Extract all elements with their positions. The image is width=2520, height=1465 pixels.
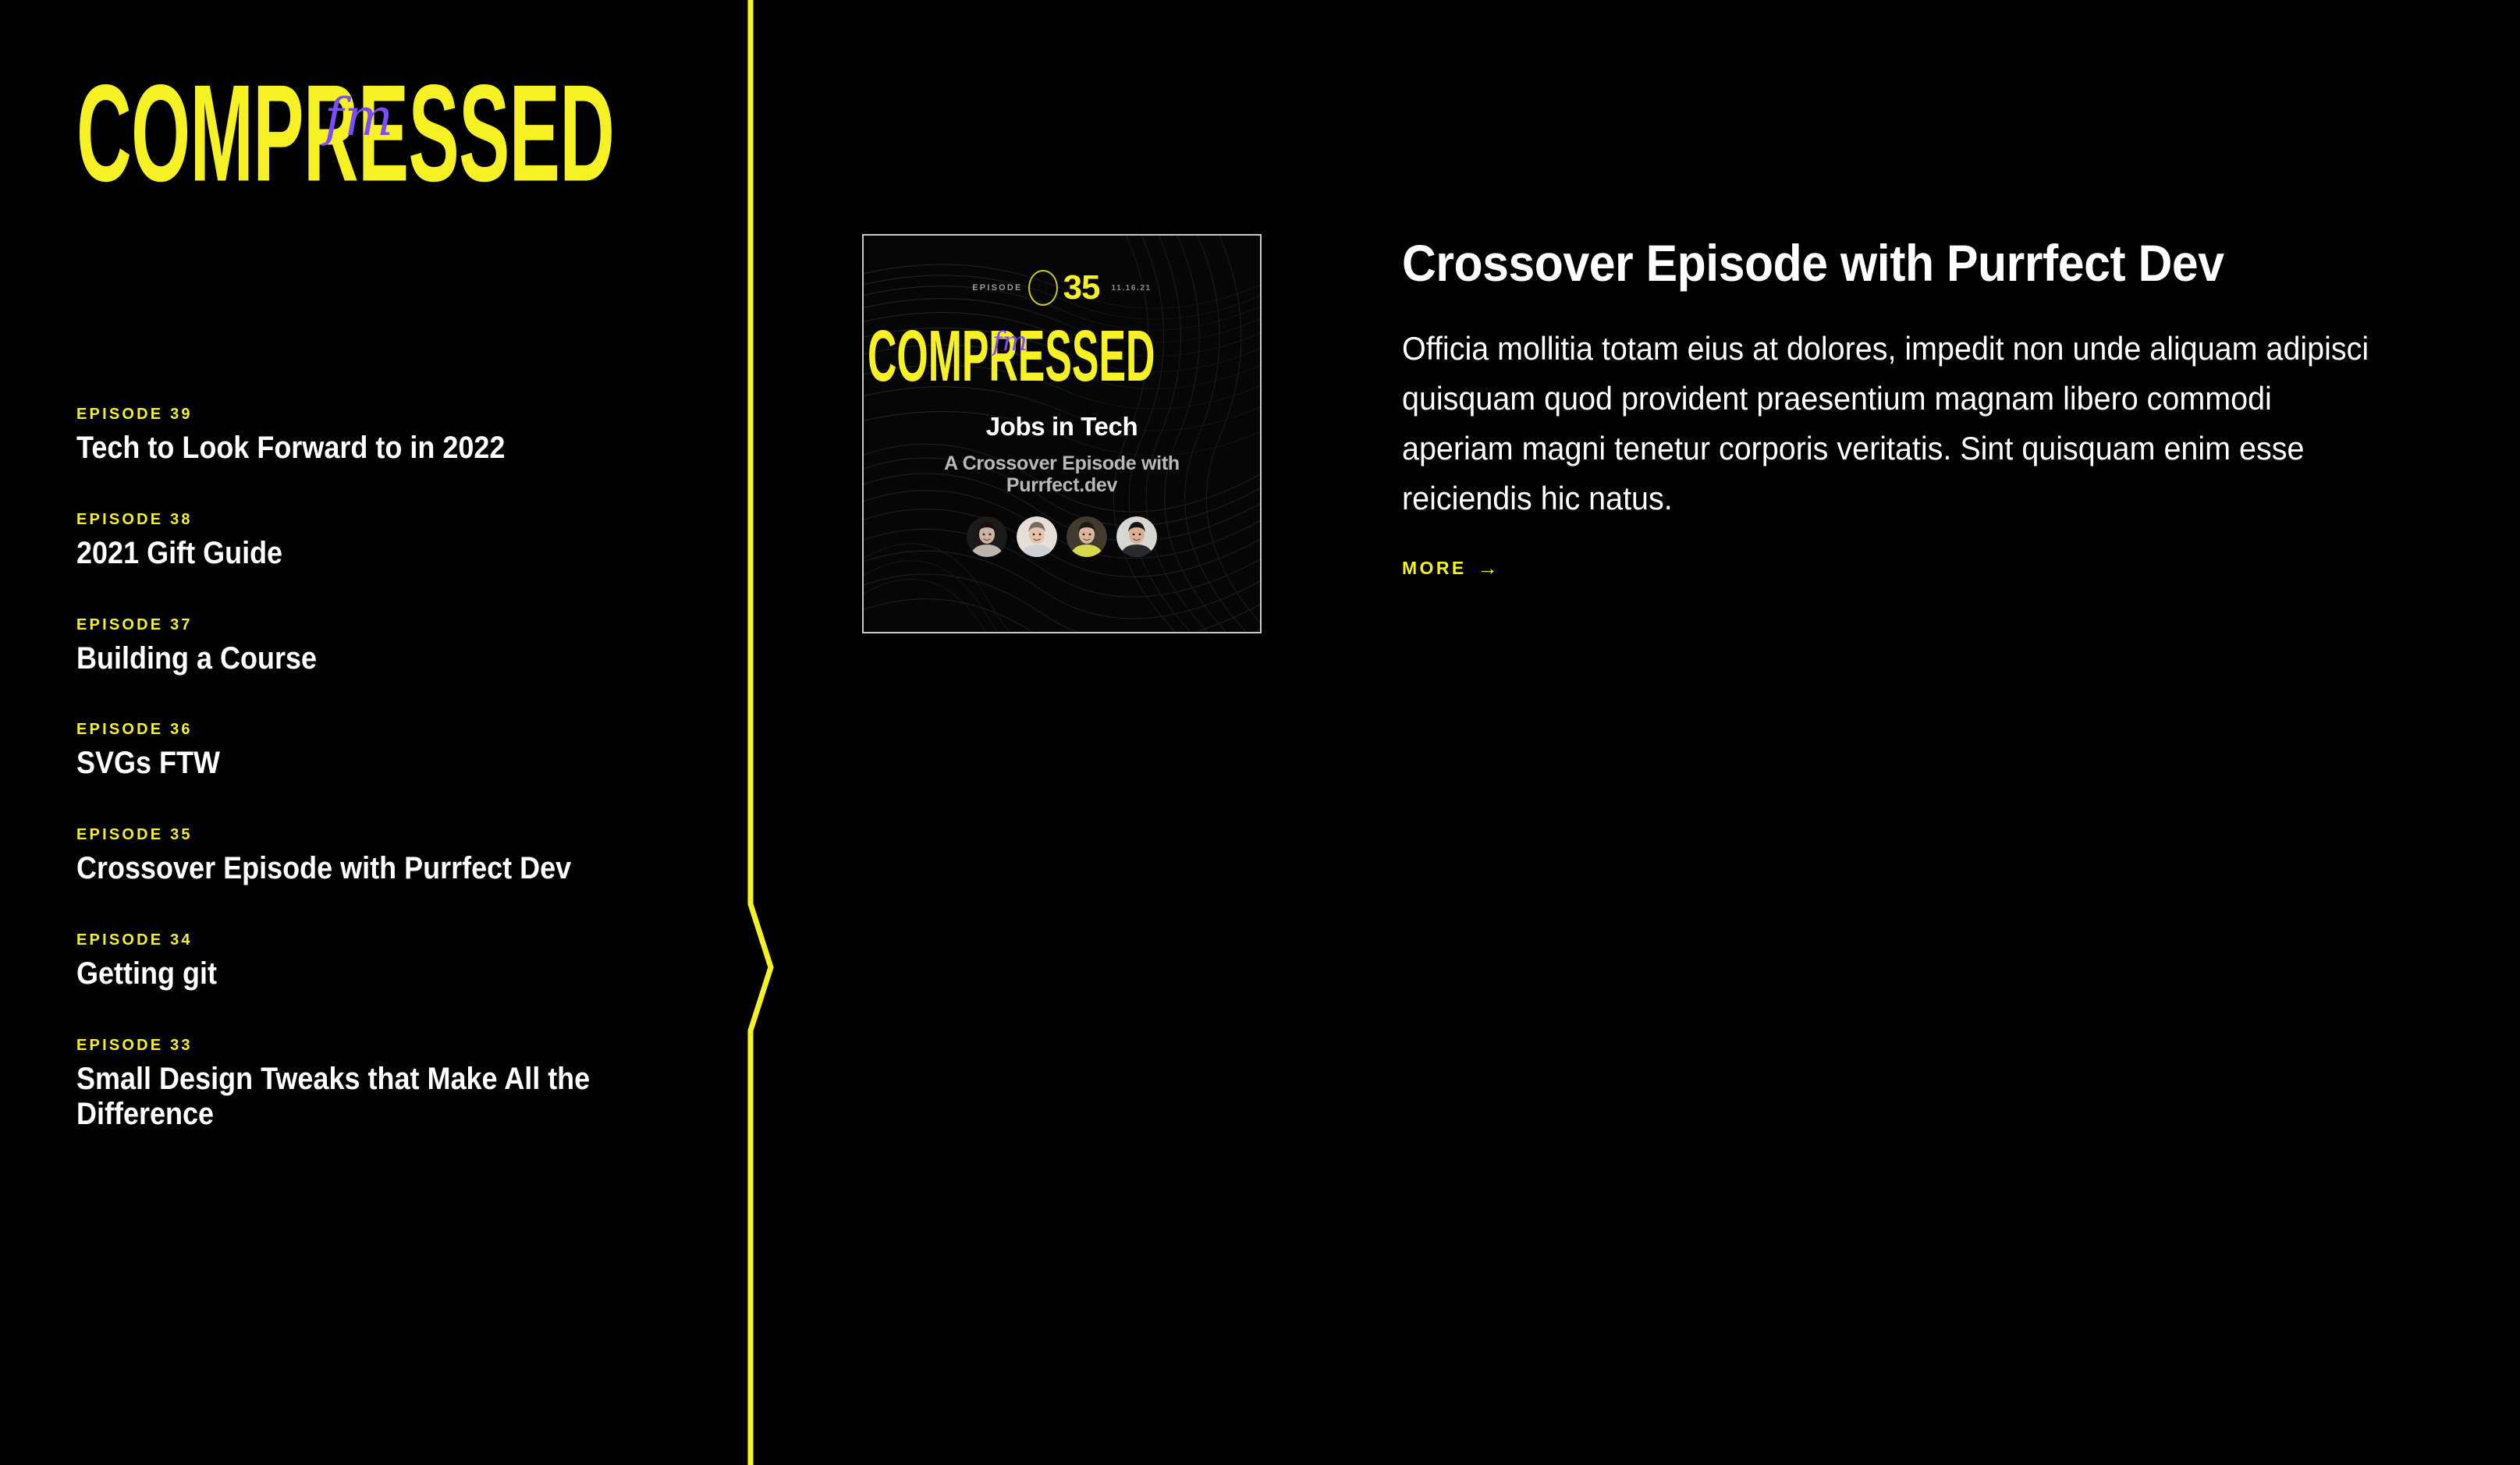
episode-list-item[interactable]: EPISODE 33Small Design Tweaks that Make … (76, 1037, 693, 1132)
episode-list-item[interactable]: EPISODE 37Building a Course (76, 616, 693, 676)
episode-title-label: Getting git (76, 956, 692, 991)
cover-episode-line: EPISODE 0 35 11.16.21 (972, 270, 1151, 306)
episode-list-item[interactable]: EPISODE 36SVGs FTW (76, 721, 693, 781)
episode-list-item[interactable]: EPISODE 39Tech to Look Forward to in 202… (76, 406, 693, 466)
episode-title-label: 2021 Gift Guide (76, 536, 692, 571)
episode-number-label: EPISODE 35 (76, 826, 693, 844)
cover-episode-number: 35 (1063, 271, 1100, 305)
episode-title-label: SVGs FTW (76, 746, 692, 781)
cover-logo-fm-suffix: fm (992, 326, 1028, 357)
episode-number-label: EPISODE 34 (76, 931, 693, 949)
episode-list-item[interactable]: EPISODE 35Crossover Episode with Purrfec… (76, 826, 693, 886)
host-avatar (1017, 516, 1057, 557)
site-logo[interactable]: COMPRESSED fm (76, 64, 823, 204)
episode-title-label: Building a Course (76, 641, 692, 676)
host-avatar (967, 516, 1007, 557)
cover-host-avatars (967, 516, 1157, 557)
episode-description: Officia mollitia totam eius at dolores, … (1402, 324, 2374, 523)
cover-title: Jobs in Tech (986, 412, 1138, 442)
more-link-label: MORE (1402, 558, 1467, 579)
more-link[interactable]: MORE → (1402, 558, 1498, 579)
episode-article: Crossover Episode with Purrfect Dev Offi… (1262, 234, 2377, 579)
episode-list-item[interactable]: EPISODE 382021 Gift Guide (76, 511, 693, 571)
host-avatar (1116, 516, 1157, 557)
sidebar: COMPRESSED fm EPISODE 39Tech to Look For… (0, 0, 730, 1465)
episode-number-label: EPISODE 36 (76, 721, 693, 739)
cover-logo: COMPRESSED fm (868, 320, 1256, 392)
cover-episode-label: EPISODE (972, 283, 1022, 293)
logo-fm-suffix: fm (325, 92, 394, 144)
episode-cover-art[interactable]: EPISODE 0 35 11.16.21 COMPRESSED fm Jobs… (862, 234, 1262, 633)
episode-title-label: Small Design Tweaks that Make All the Di… (76, 1062, 692, 1132)
episode-number-label: EPISODE 39 (76, 406, 693, 424)
episode-list-item[interactable]: EPISODE 34Getting git (76, 931, 693, 991)
episode-list: EPISODE 39Tech to Look Forward to in 202… (76, 406, 693, 1131)
cover-subtitle: A Crossover Episode with Purrfect.dev (933, 452, 1191, 496)
arrow-right-icon: → (1478, 558, 1498, 578)
episode-title-label: Crossover Episode with Purrfect Dev (76, 851, 692, 886)
podcast-episode-page: COMPRESSED fm EPISODE 39Tech to Look For… (0, 0, 2520, 1465)
host-avatar (1067, 516, 1107, 557)
episode-number-label: EPISODE 37 (76, 616, 693, 634)
episode-number-label: EPISODE 33 (76, 1037, 693, 1055)
vertical-divider-with-chevron (730, 0, 777, 1465)
episode-title: Crossover Episode with Purrfect Dev (1402, 236, 2371, 291)
cover-episode-date: 11.16.21 (1112, 284, 1152, 293)
cover-episode-zero: 0 (1028, 270, 1058, 306)
episode-title-label: Tech to Look Forward to in 2022 (76, 431, 692, 466)
episode-number-label: EPISODE 38 (76, 511, 693, 529)
main-content: EPISODE 0 35 11.16.21 COMPRESSED fm Jobs… (777, 0, 2520, 1465)
